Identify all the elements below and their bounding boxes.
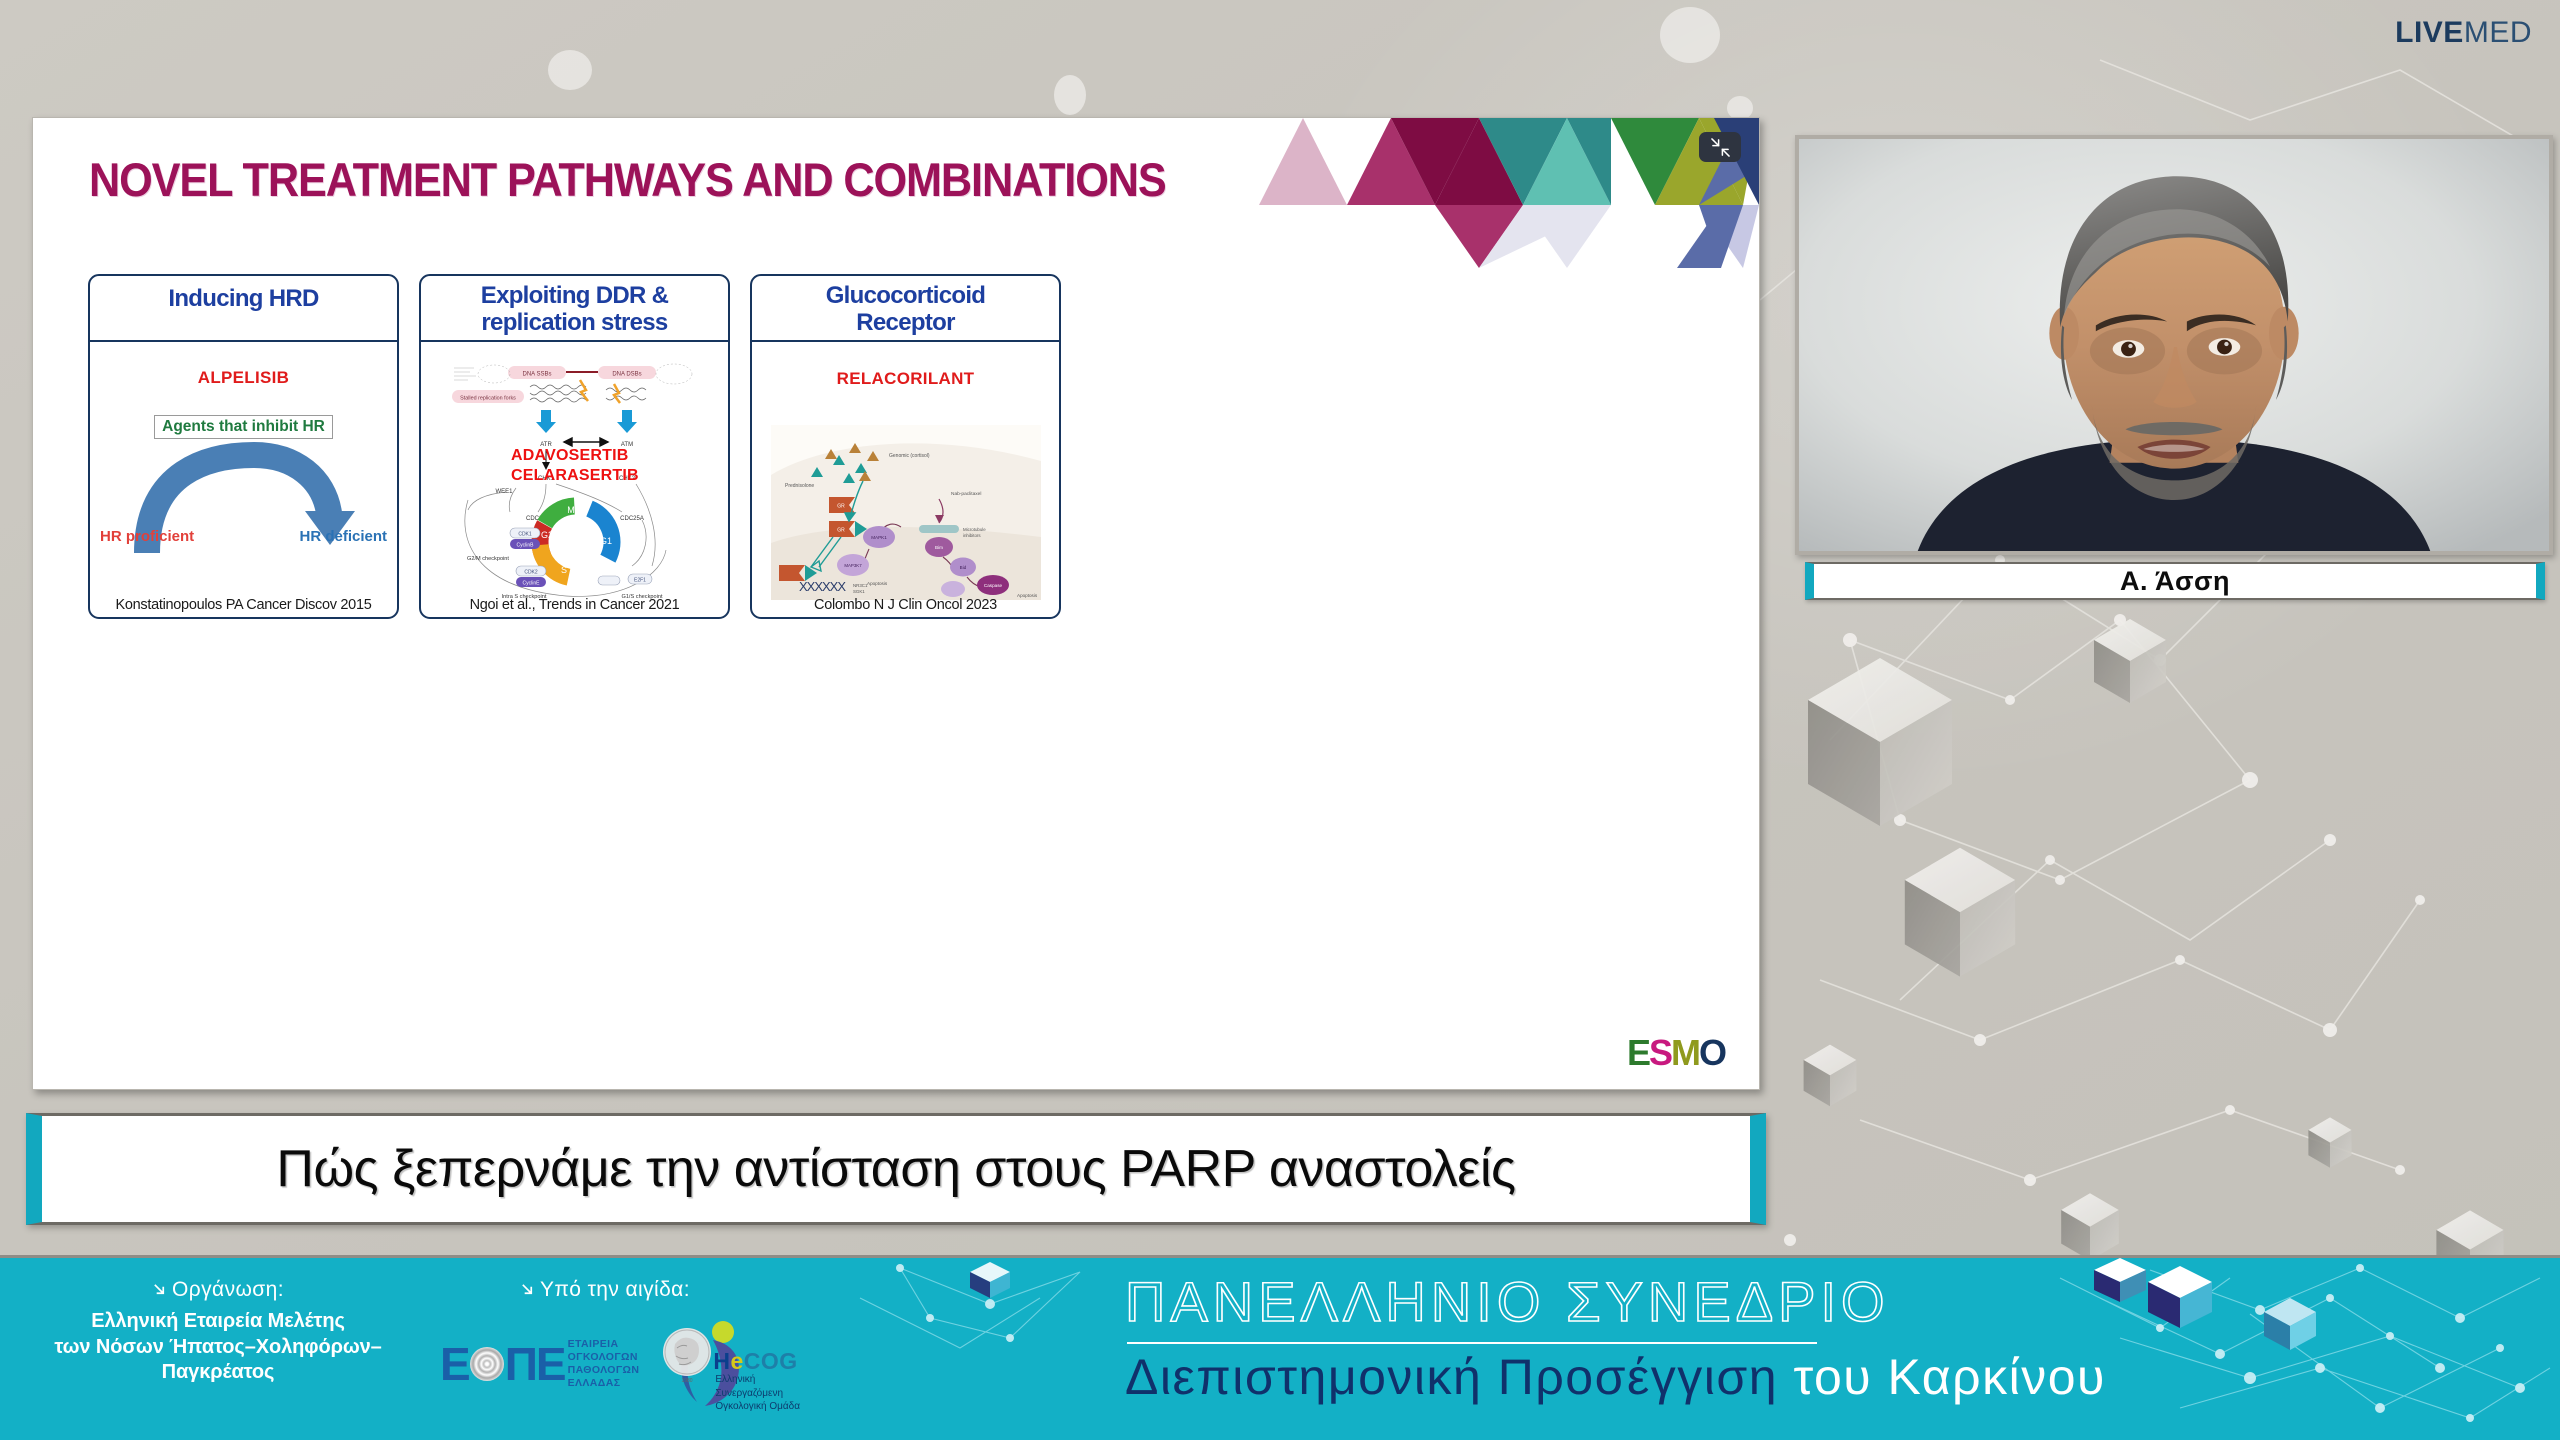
panel-glucocorticoid-receptor[interactable]: Glucocorticoid Receptor RELACORILANT [750, 274, 1061, 619]
hecog-e: e [730, 1348, 743, 1374]
svg-text:Apoptosis: Apoptosis [867, 581, 888, 586]
svg-text:inhibitors: inhibitors [963, 533, 981, 538]
conference-title-line2: Διεπιστημονική Προσέγγιση του Καρκίνου [1125, 1350, 2106, 1405]
eope-letter-e: E [440, 1341, 469, 1387]
panel-row: Inducing HRD ALPELISIB Agents that inhib… [88, 274, 1061, 619]
conference-title-block: ΠΑΝΕΛΛΗΝΙΟ ΣΥΝΕΔΡΙΟ Διεπιστημονική Προσέ… [1125, 1272, 2106, 1405]
organizer-heading-text: Οργάνωση: [172, 1278, 284, 1301]
panel-1-citation: Konstatinopoulos PA Cancer Discov 2015 [90, 597, 397, 613]
svg-text:Nab-paclitaxel: Nab-paclitaxel [951, 491, 981, 497]
eope-sub-3: ΠΑΘΟΛΟΓΩΝ [568, 1364, 640, 1377]
conference-banner: Οργάνωση: Ελληνική Εταιρεία Μελέτης των … [0, 1255, 2560, 1440]
svg-text:Genomic (cortisol): Genomic (cortisol) [889, 453, 930, 459]
arrow-down-right-icon-2 [520, 1282, 535, 1297]
svg-text:CyclinE: CyclinE [522, 581, 540, 587]
panel-2-body: DNA SSBs DNA DSBs Stalled replication fo… [421, 342, 728, 617]
panel-exploiting-ddr[interactable]: Exploiting DDR & replication stress DNA … [419, 274, 730, 619]
conference-title-rule [1127, 1342, 1817, 1344]
hecog-wordmark: HeCOG [713, 1348, 797, 1375]
conference-title-line1: ΠΑΝΕΛΛΗΝΙΟ ΣΥΝΕΔΡΙΟ [1125, 1272, 2106, 1332]
svg-text:G1: G1 [599, 536, 611, 546]
spiral-icon [470, 1347, 504, 1381]
svg-text:E2F1: E2F1 [634, 578, 646, 584]
session-caption-bar: Πώς ξεπερνάμε την αντίσταση στους PARP α… [26, 1113, 1766, 1225]
panel-2-drug-labels: ADAVOSERTIB CELARASERTIB [511, 446, 639, 485]
hr-deficient-label: HR deficient [299, 528, 387, 545]
panel-3-title-line1: Glucocorticoid [758, 282, 1053, 309]
esmo-logo-o: O [1699, 1035, 1725, 1071]
esmo-logo: ESMO [1627, 1035, 1725, 1071]
aegis-heading-text: Υπό την αιγίδα: [540, 1278, 690, 1301]
svg-text:DNA DSBs: DNA DSBs [612, 372, 641, 378]
eope-logo-letters: EΠΕ [440, 1341, 565, 1387]
arrow-down-right-icon [152, 1282, 167, 1297]
conference-subtitle-light: του Καρκίνου [1793, 1349, 2105, 1405]
svg-text:S: S [560, 565, 566, 575]
svg-text:XXXXXX: XXXXXX [799, 579, 846, 594]
svg-text:G2: G2 [540, 530, 552, 540]
panel-2-drug-1: ADAVOSERTIB [511, 446, 639, 466]
panel-1-title: Inducing HRD [90, 276, 397, 342]
svg-text:GR: GR [837, 504, 845, 510]
eope-sub-2: ΟΓΚΟΛΟΓΩΝ [568, 1351, 640, 1364]
eope-sub-1: ΕΤΑΙΡΕΙΑ [568, 1338, 640, 1351]
hecog-subtitle: Ελληνική Συνεργαζόμενη Ογκολογική Ομάδα [715, 1373, 800, 1414]
exit-fullscreen-button[interactable] [1699, 132, 1741, 162]
organizer-block: Οργάνωση: Ελληνική Εταιρεία Μελέτης των … [18, 1278, 418, 1386]
svg-text:Stalled replication forks: Stalled replication forks [460, 396, 516, 402]
svg-text:DNA SSBs: DNA SSBs [522, 372, 551, 378]
panel-inducing-hrd[interactable]: Inducing HRD ALPELISIB Agents that inhib… [88, 274, 399, 619]
panel-3-citation: Colombo N J Clin Oncol 2023 [752, 597, 1059, 613]
hr-axis-labels: HR proficient HR deficient [100, 528, 387, 545]
exit-fullscreen-icon [1711, 138, 1730, 157]
svg-text:GR: GR [837, 528, 845, 534]
svg-text:MAP3K7: MAP3K7 [844, 563, 862, 568]
panel-2-citation: Ngoi et al., Trends in Cancer 2021 [421, 597, 728, 613]
slide-title: NOVEL TREATMENT PATHWAYS AND COMBINATION… [89, 152, 1166, 207]
hr-proficient-label: HR proficient [100, 528, 194, 545]
livemed-logo-live: LIVE [2395, 16, 2464, 49]
hecog-sub-2: Συνεργαζόμενη [715, 1387, 800, 1401]
eope-logo-subtitle: ΕΤΑΙΡΕΙΑ ΟΓΚΟΛΟΓΩΝ ΠΑΘΟΛΟΓΩΝ ΕΛΛΑΔΑΣ [568, 1338, 640, 1389]
aegis-heading: Υπό την αιγίδα: [520, 1278, 690, 1302]
svg-text:Microtubule: Microtubule [963, 527, 986, 532]
panel-2-title-line2: replication stress [427, 309, 722, 336]
svg-text:CDC25A: CDC25A [620, 516, 644, 522]
hecog-sub-3: Ογκολογική Ομάδα [715, 1400, 800, 1414]
svg-text:CyclinB: CyclinB [516, 543, 534, 549]
svg-text:1980: 1980 [682, 1378, 693, 1384]
panel-3-body: RELACORILANT [752, 342, 1059, 617]
session-caption-text: Πώς ξεπερνάμε την αντίσταση στους PARP α… [276, 1139, 1515, 1199]
speaker-webcam-image [1799, 139, 2549, 551]
aegis-block: Υπό την αιγίδα: [520, 1278, 690, 1302]
hecog-h: H [713, 1348, 730, 1374]
organizer-heading: Οργάνωση: [18, 1278, 418, 1302]
speaker-video-tile[interactable] [1795, 135, 2553, 555]
panel-3-title-line2: Receptor [758, 309, 1053, 336]
agents-inhibit-hr-box: Agents that inhibit HR [154, 415, 333, 439]
organizer-line-1: Ελληνική Εταιρεία Μελέτης [18, 1309, 418, 1335]
svg-text:MAPK1: MAPK1 [871, 535, 887, 540]
svg-text:CDK2: CDK2 [524, 570, 538, 576]
eope-logo: EΠΕ ΕΤΑΙΡΕΙΑ ΟΓΚΟΛΟΓΩΝ ΠΑΘΟΛΟΓΩΝ ΕΛΛΑΔΑΣ [440, 1338, 639, 1389]
eope-sub-4: ΕΛΛΑΔΑΣ [568, 1377, 640, 1390]
speaker-name: Α. Άσση [2120, 566, 2230, 597]
svg-text:CDK1: CDK1 [518, 532, 532, 538]
svg-text:Bim: Bim [935, 545, 943, 550]
svg-text:Caspase: Caspase [983, 583, 1002, 588]
triangle-mosaic-decoration [1259, 118, 1759, 268]
svg-text:Bid: Bid [959, 565, 966, 570]
svg-text:NR3C1: NR3C1 [853, 583, 868, 588]
organizer-line-2: των Νόσων Ήπατος–Χοληφόρων–Παγκρέατος [18, 1335, 418, 1386]
esmo-logo-e: E [1627, 1035, 1649, 1071]
svg-text:Prednisolone: Prednisolone [785, 483, 814, 489]
presentation-slide[interactable]: NOVEL TREATMENT PATHWAYS AND COMBINATION… [32, 117, 1760, 1090]
hecog-sub-1: Ελληνική [715, 1373, 800, 1387]
panel-1-drug-label: ALPELISIB [198, 368, 290, 388]
livemed-logo: LIVEMED [2395, 18, 2532, 48]
panel-2-title: Exploiting DDR & replication stress [421, 276, 728, 342]
panel-1-body: ALPELISIB Agents that inhibit HR HR prof… [90, 342, 397, 617]
sponsor-logos-row: EΠΕ ΕΤΑΙΡΕΙΑ ΟΓΚΟΛΟΓΩΝ ΠΑΘΟΛΟΓΩΝ ΕΛΛΑΔΑΣ [440, 1318, 807, 1410]
eope-letters-pe: ΠΕ [505, 1341, 565, 1387]
esmo-logo-m: M [1671, 1035, 1699, 1071]
app-root: LIVEMED [0, 0, 2560, 1440]
speaker-nameplate: Α. Άσση [1805, 562, 2545, 600]
hecog-logo: 1980 HeCOG Ελληνική Συνεργαζόμενη Ογκολο… [661, 1318, 807, 1410]
panel-2-drug-2: CELARASERTIB [511, 466, 639, 486]
glucocorticoid-receptor-cell-diagram: Prednisolone Genomic (cortisol) GR GR [771, 425, 1041, 600]
panel-2-title-line1: Exploiting DDR & [427, 282, 722, 309]
svg-text:SGK1: SGK1 [853, 589, 865, 594]
svg-text:G2/M checkpoint: G2/M checkpoint [467, 556, 509, 562]
hecog-cog: COG [744, 1348, 798, 1374]
panel-3-title: Glucocorticoid Receptor [752, 276, 1059, 342]
esmo-logo-s: S [1649, 1035, 1671, 1071]
svg-text:M: M [567, 505, 575, 515]
panel-3-drug-label: RELACORILANT [837, 369, 975, 389]
conference-subtitle-dark: Διεπιστημονική Προσέγγιση [1125, 1349, 1778, 1405]
livemed-logo-med: MED [2464, 16, 2532, 49]
